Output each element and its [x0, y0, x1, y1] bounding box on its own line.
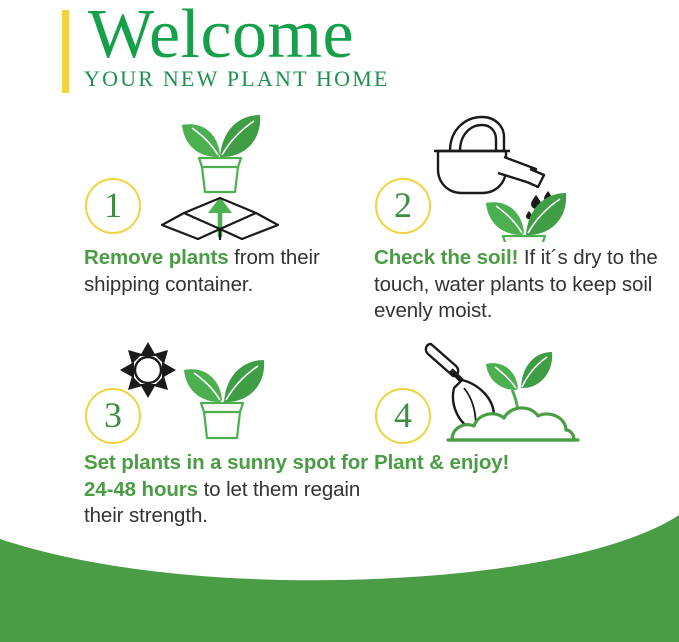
step-number-label-1: 1 [104, 187, 122, 223]
watering-can-icon [426, 107, 586, 247]
header-accent-bar [62, 10, 69, 93]
step-1-icon-row: 1 [78, 105, 378, 213]
step-number-badge-2: 2 [375, 178, 431, 234]
step-4-text: Plant & enjoy! [374, 450, 674, 477]
step-1-highlight: Remove plants [84, 246, 229, 269]
sun-and-plant-icon [116, 340, 286, 460]
step-2-text: Check the soil! If it´s dry to the touch… [374, 245, 674, 325]
step-number-badge-1: 1 [85, 178, 141, 234]
step-card-3: 3 [78, 340, 378, 448]
page-subtitle: YOUR NEW PLANT HOME [84, 66, 390, 92]
page-header: Welcome YOUR NEW PLANT HOME [0, 0, 679, 108]
step-2-icon-row: 2 [368, 105, 673, 213]
step-2-highlight: Check the soil! [374, 246, 518, 269]
step-4-highlight: Plant & enjoy! [374, 451, 509, 474]
step-3-icon-row: 3 [78, 340, 378, 448]
step-card-1: 1 Remo [78, 105, 378, 213]
step-1-text: Remove plants from their shipping contai… [84, 245, 374, 298]
page-title: Welcome [88, 0, 354, 72]
step-number-label-4: 4 [394, 397, 412, 433]
step-number-label-2: 2 [394, 187, 412, 223]
step-card-4: 4 Plant & enjoy [368, 340, 673, 448]
step-card-2: 2 [368, 105, 673, 213]
trowel-and-seedling-icon [418, 340, 598, 455]
step-4-icon-row: 4 [368, 340, 673, 448]
footer-green-curve [0, 497, 679, 642]
plant-in-box-icon [148, 105, 288, 245]
